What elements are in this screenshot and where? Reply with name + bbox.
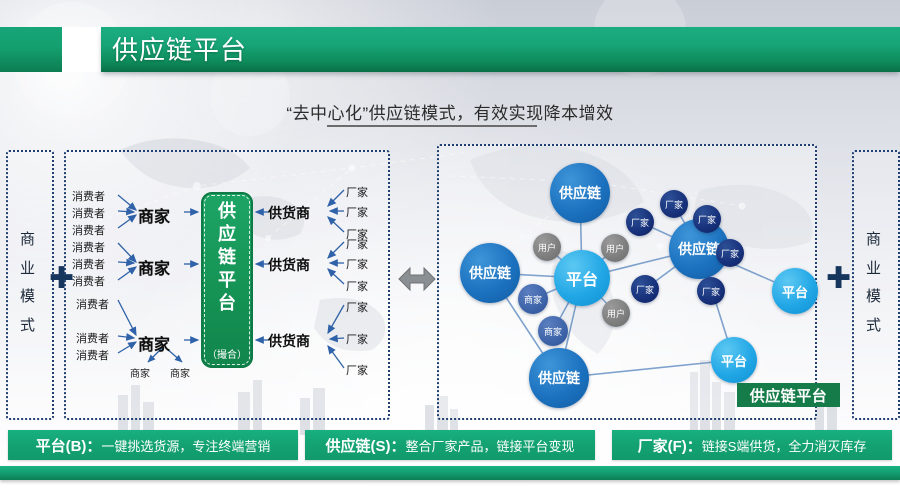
consumer-label: 消费者 xyxy=(72,256,105,272)
header-accent-block xyxy=(0,27,62,72)
bottom-bar-key: 厂家(F)： xyxy=(638,435,702,456)
network-node-factory-3[interactable]: 厂家 xyxy=(626,208,654,236)
left-label-char-0: 商 xyxy=(20,226,36,255)
left-label-char-2: 模 xyxy=(20,283,36,312)
gbox-char-2: 链 xyxy=(201,246,253,269)
consumer-label: 消费者 xyxy=(72,205,105,221)
bottom-bar-value: 整合厂家产品，链接平台变现 xyxy=(405,436,574,455)
factory-label: 厂家 xyxy=(346,204,368,220)
network-node-shop-b[interactable]: 商家 xyxy=(538,316,568,346)
right-label-char-2: 模 xyxy=(866,283,882,312)
network-node-user-c[interactable]: 用户 xyxy=(602,299,630,327)
supplier-node: 供货商 xyxy=(268,331,310,351)
network-badge: 供应链平台 xyxy=(737,383,840,407)
bottom-bar-key: 供应链(S)： xyxy=(325,435,405,456)
factory-label: 厂家 xyxy=(346,236,368,252)
factory-label: 厂家 xyxy=(346,331,368,347)
subtitle-underline xyxy=(327,125,537,127)
left-vertical-label: 商 业 模 式 xyxy=(6,150,50,416)
network-node-supply-top[interactable]: 供应链 xyxy=(550,163,610,223)
consumer-label: 消费者 xyxy=(72,273,105,289)
bottom-bar-supply-chain: 供应链(S)： 整合厂家产品，链接平台变现 xyxy=(305,430,595,460)
merchant-node: 商家 xyxy=(138,203,170,227)
right-label-char-1: 业 xyxy=(866,255,882,284)
sub-merchant-label: 商家 xyxy=(130,365,150,380)
network-diagram: 供应链供应链供应链平台供应链平台平台用户用户用户商家商家厂家厂家厂家厂家厂家厂家 xyxy=(437,144,813,416)
supply-chain-platform-box-text: 供 应 链 平 台 xyxy=(201,200,253,315)
network-node-supply-bottom[interactable]: 供应链 xyxy=(529,348,589,408)
factory-label: 厂家 xyxy=(346,184,368,200)
bottom-bar-value: 链接S端供货，全力消灭库存 xyxy=(702,436,867,455)
supply-chain-platform-box: 供 应 链 平 台 （撮合） xyxy=(201,192,253,368)
header-gap xyxy=(62,27,101,72)
page-title: 供应链平台 xyxy=(112,30,247,70)
network-node-user-b[interactable]: 用户 xyxy=(601,234,629,262)
merchant-node: 商家 xyxy=(138,255,170,279)
merchant-node: 商家 xyxy=(138,331,170,355)
network-node-supply-left[interactable]: 供应链 xyxy=(460,243,520,303)
bottom-strip xyxy=(0,466,900,480)
consumer-label: 消费者 xyxy=(72,239,105,255)
plus-icon-left: ✚ xyxy=(49,264,74,294)
right-label-char-3: 式 xyxy=(866,312,882,341)
bidirectional-arrow-icon xyxy=(398,262,436,296)
bottom-bar-factory: 厂家(F)： 链接S端供货，全力消灭库存 xyxy=(612,430,892,460)
network-node-platform-center[interactable]: 平台 xyxy=(554,250,610,306)
plus-icon-right: ✚ xyxy=(826,264,851,294)
network-node-factory-2[interactable]: 厂家 xyxy=(693,205,721,233)
network-node-user-a[interactable]: 用户 xyxy=(533,233,561,261)
factory-label: 厂家 xyxy=(346,278,368,294)
gbox-char-4: 台 xyxy=(201,292,253,315)
consumer-label: 消费者 xyxy=(76,330,109,346)
gbox-char-0: 供 xyxy=(201,200,253,223)
network-node-factory-6[interactable]: 厂家 xyxy=(631,275,659,303)
sub-merchant-label: 商家 xyxy=(170,365,190,380)
supply-chain-platform-note: （撮合） xyxy=(201,346,253,361)
gbox-char-1: 应 xyxy=(201,223,253,246)
bottom-bar-key: 平台(B)： xyxy=(36,435,102,456)
left-label-char-3: 式 xyxy=(20,312,36,341)
bottom-bar-value: 一键挑选货源，专注终端营销 xyxy=(101,436,270,455)
right-vertical-label: 商 业 模 式 xyxy=(852,150,896,416)
factory-label: 厂家 xyxy=(346,362,368,378)
consumer-label: 消费者 xyxy=(72,222,105,238)
subtitle: “去中心化”供应链模式，有效实现降本增效 xyxy=(0,99,900,124)
supplier-node: 供货商 xyxy=(268,255,310,275)
factory-label: 厂家 xyxy=(346,299,368,315)
network-node-factory-5[interactable]: 厂家 xyxy=(697,277,725,305)
left-label-char-1: 业 xyxy=(20,255,36,284)
right-label-char-0: 商 xyxy=(866,226,882,255)
consumer-label: 消费者 xyxy=(72,188,105,204)
gbox-char-3: 平 xyxy=(201,269,253,292)
consumer-label: 消费者 xyxy=(76,347,109,363)
supplier-node: 供货商 xyxy=(268,203,310,223)
slide-canvas: 供应链平台 “去中心化”供应链模式，有效实现降本增效 商 业 模 式 商 业 模… xyxy=(0,0,900,488)
network-node-factory-4[interactable]: 厂家 xyxy=(716,239,744,267)
consumer-label: 消费者 xyxy=(76,296,109,312)
network-node-shop-a[interactable]: 商家 xyxy=(518,284,548,314)
network-node-platform-right[interactable]: 平台 xyxy=(772,268,818,314)
network-node-factory-1[interactable]: 厂家 xyxy=(660,190,688,218)
bottom-bar-platform: 平台(B)： 一键挑选货源，专注终端营销 xyxy=(8,430,298,460)
factory-label: 厂家 xyxy=(346,256,368,272)
network-node-platform-lowright[interactable]: 平台 xyxy=(711,337,757,383)
